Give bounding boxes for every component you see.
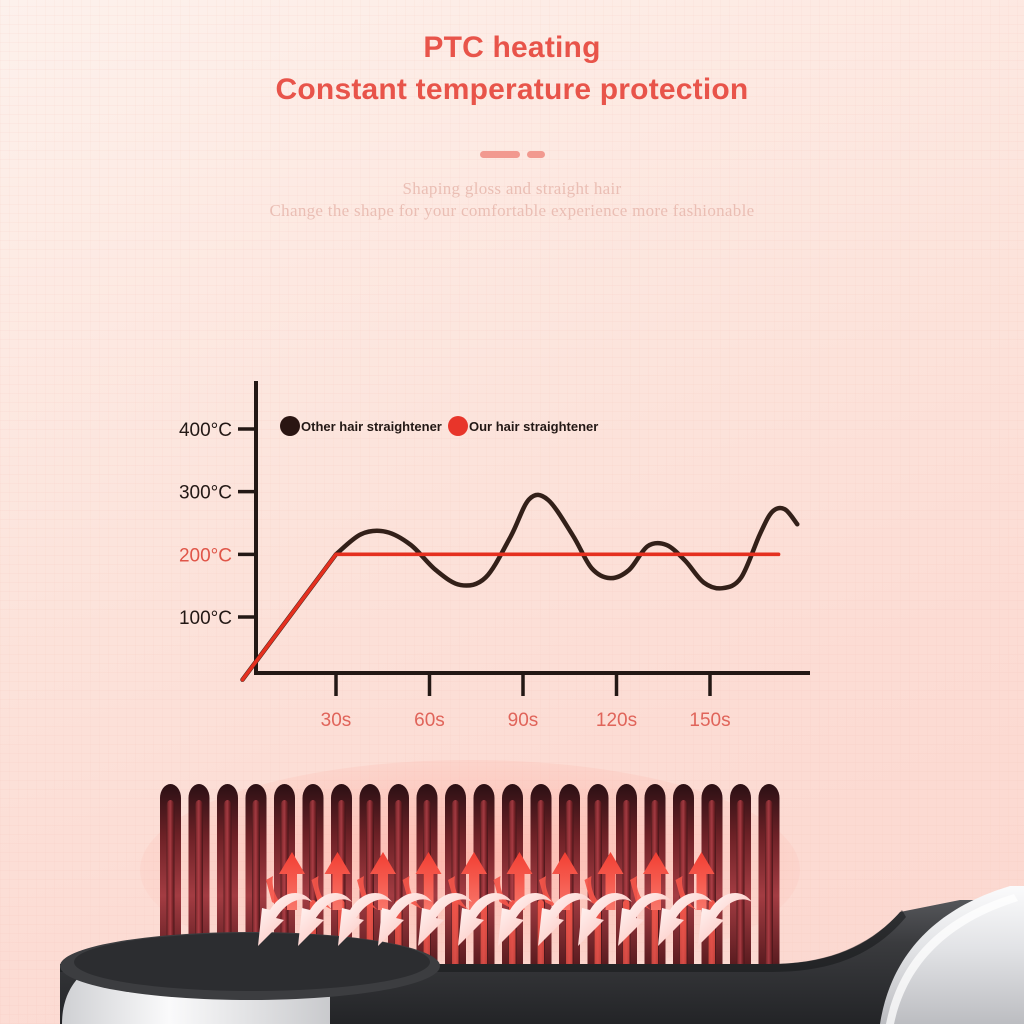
temperature-chart: 100°C200°C300°C400°C 30s60s90s120s150s O…: [0, 370, 1024, 750]
x-tick-label-90: 90s: [508, 710, 539, 731]
subtitle-line-2: Change the shape for your comfortable ex…: [0, 199, 1024, 221]
legend-label-our: Our hair straightener: [469, 419, 598, 434]
y-tick-label-200: 200°C: [179, 545, 232, 566]
y-tick-label-400: 400°C: [179, 420, 232, 441]
legend-dot-other: [280, 416, 300, 436]
page-title-line-2: Constant temperature protection: [0, 65, 1024, 108]
page-title-line-1: PTC heating: [0, 0, 1024, 65]
chart-legend: Other hair straightenerOur hair straight…: [280, 416, 598, 436]
divider: [0, 149, 1024, 159]
series-other-hair-straightener: [243, 495, 798, 680]
chart-series: [243, 495, 798, 680]
legend-dot-our: [448, 416, 468, 436]
comb-tooth-highlight: [737, 800, 745, 966]
series-our-hair-straightener: [243, 554, 779, 679]
x-tick-label-60: 60s: [414, 710, 445, 731]
y-axis-ticks: 100°C200°C300°C400°C: [179, 420, 256, 629]
legend-label-other: Other hair straightener: [301, 419, 442, 434]
x-tick-label-120: 120s: [596, 710, 637, 731]
product-image: [0, 750, 1024, 1024]
header: PTC heating Constant temperature protect…: [0, 0, 1024, 221]
divider-dash-short: [527, 151, 545, 158]
x-tick-label-150: 150s: [689, 710, 730, 731]
y-tick-label-100: 100°C: [179, 608, 232, 629]
y-tick-label-300: 300°C: [179, 483, 232, 504]
subtitle-line-1: Shaping gloss and straight hair: [0, 159, 1024, 199]
comb-tooth-highlight: [765, 800, 773, 966]
divider-dash-long: [480, 151, 520, 158]
x-axis-ticks: 30s60s90s120s150s: [321, 673, 731, 731]
x-tick-label-30: 30s: [321, 710, 352, 731]
